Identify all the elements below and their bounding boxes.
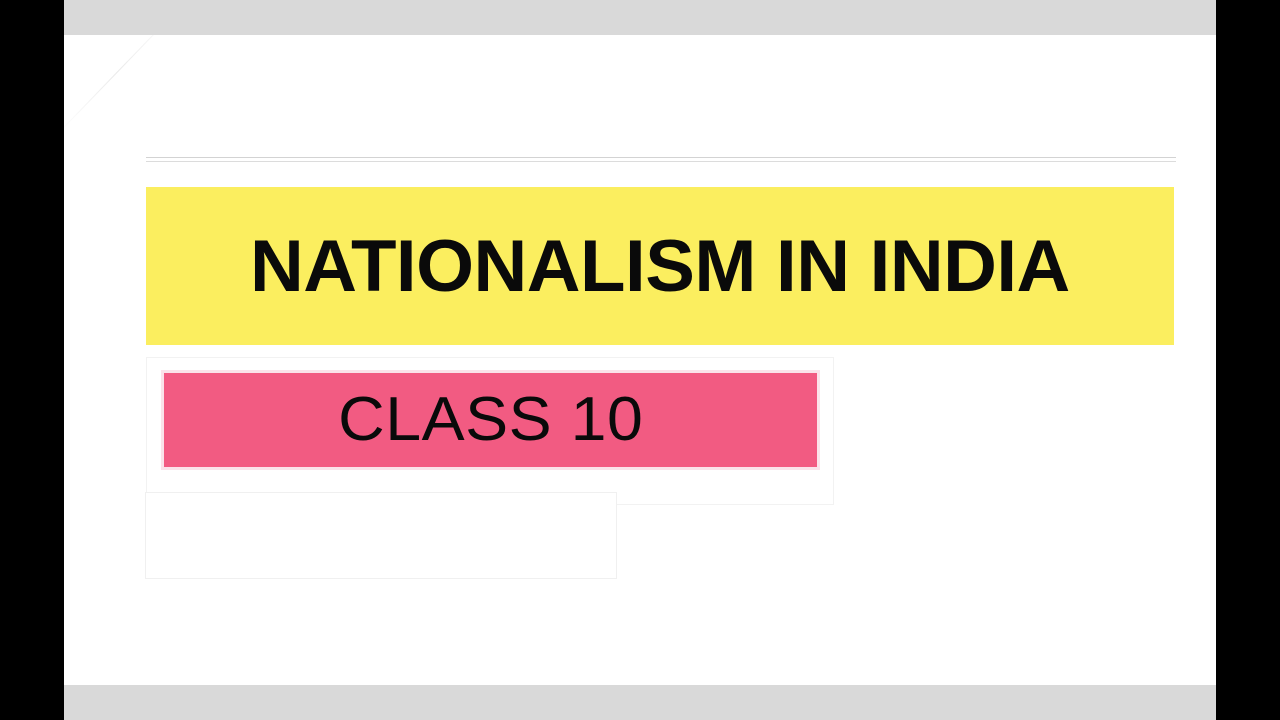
top-bar <box>64 0 1216 35</box>
body-placeholder-box[interactable] <box>145 492 617 579</box>
letterbox-right <box>1216 0 1280 720</box>
bottom-bar <box>64 685 1216 720</box>
letterbox-left <box>0 0 64 720</box>
subtitle-banner[interactable]: CLASS 10 <box>161 370 820 470</box>
title-banner[interactable]: NATIONALISM IN INDIA <box>146 187 1174 345</box>
horizontal-rule-outer <box>146 157 1176 158</box>
slide-canvas[interactable]: NATIONALISM IN INDIA CLASS 10 <box>64 35 1216 685</box>
horizontal-rule-inner <box>146 161 1176 162</box>
presentation-viewport: NATIONALISM IN INDIA CLASS 10 <box>0 0 1280 720</box>
body-placeholder-text <box>146 493 616 509</box>
slide-title: NATIONALISM IN INDIA <box>250 230 1070 303</box>
diagonal-guide-icon <box>64 35 176 134</box>
slide-subtitle: CLASS 10 <box>338 389 643 451</box>
